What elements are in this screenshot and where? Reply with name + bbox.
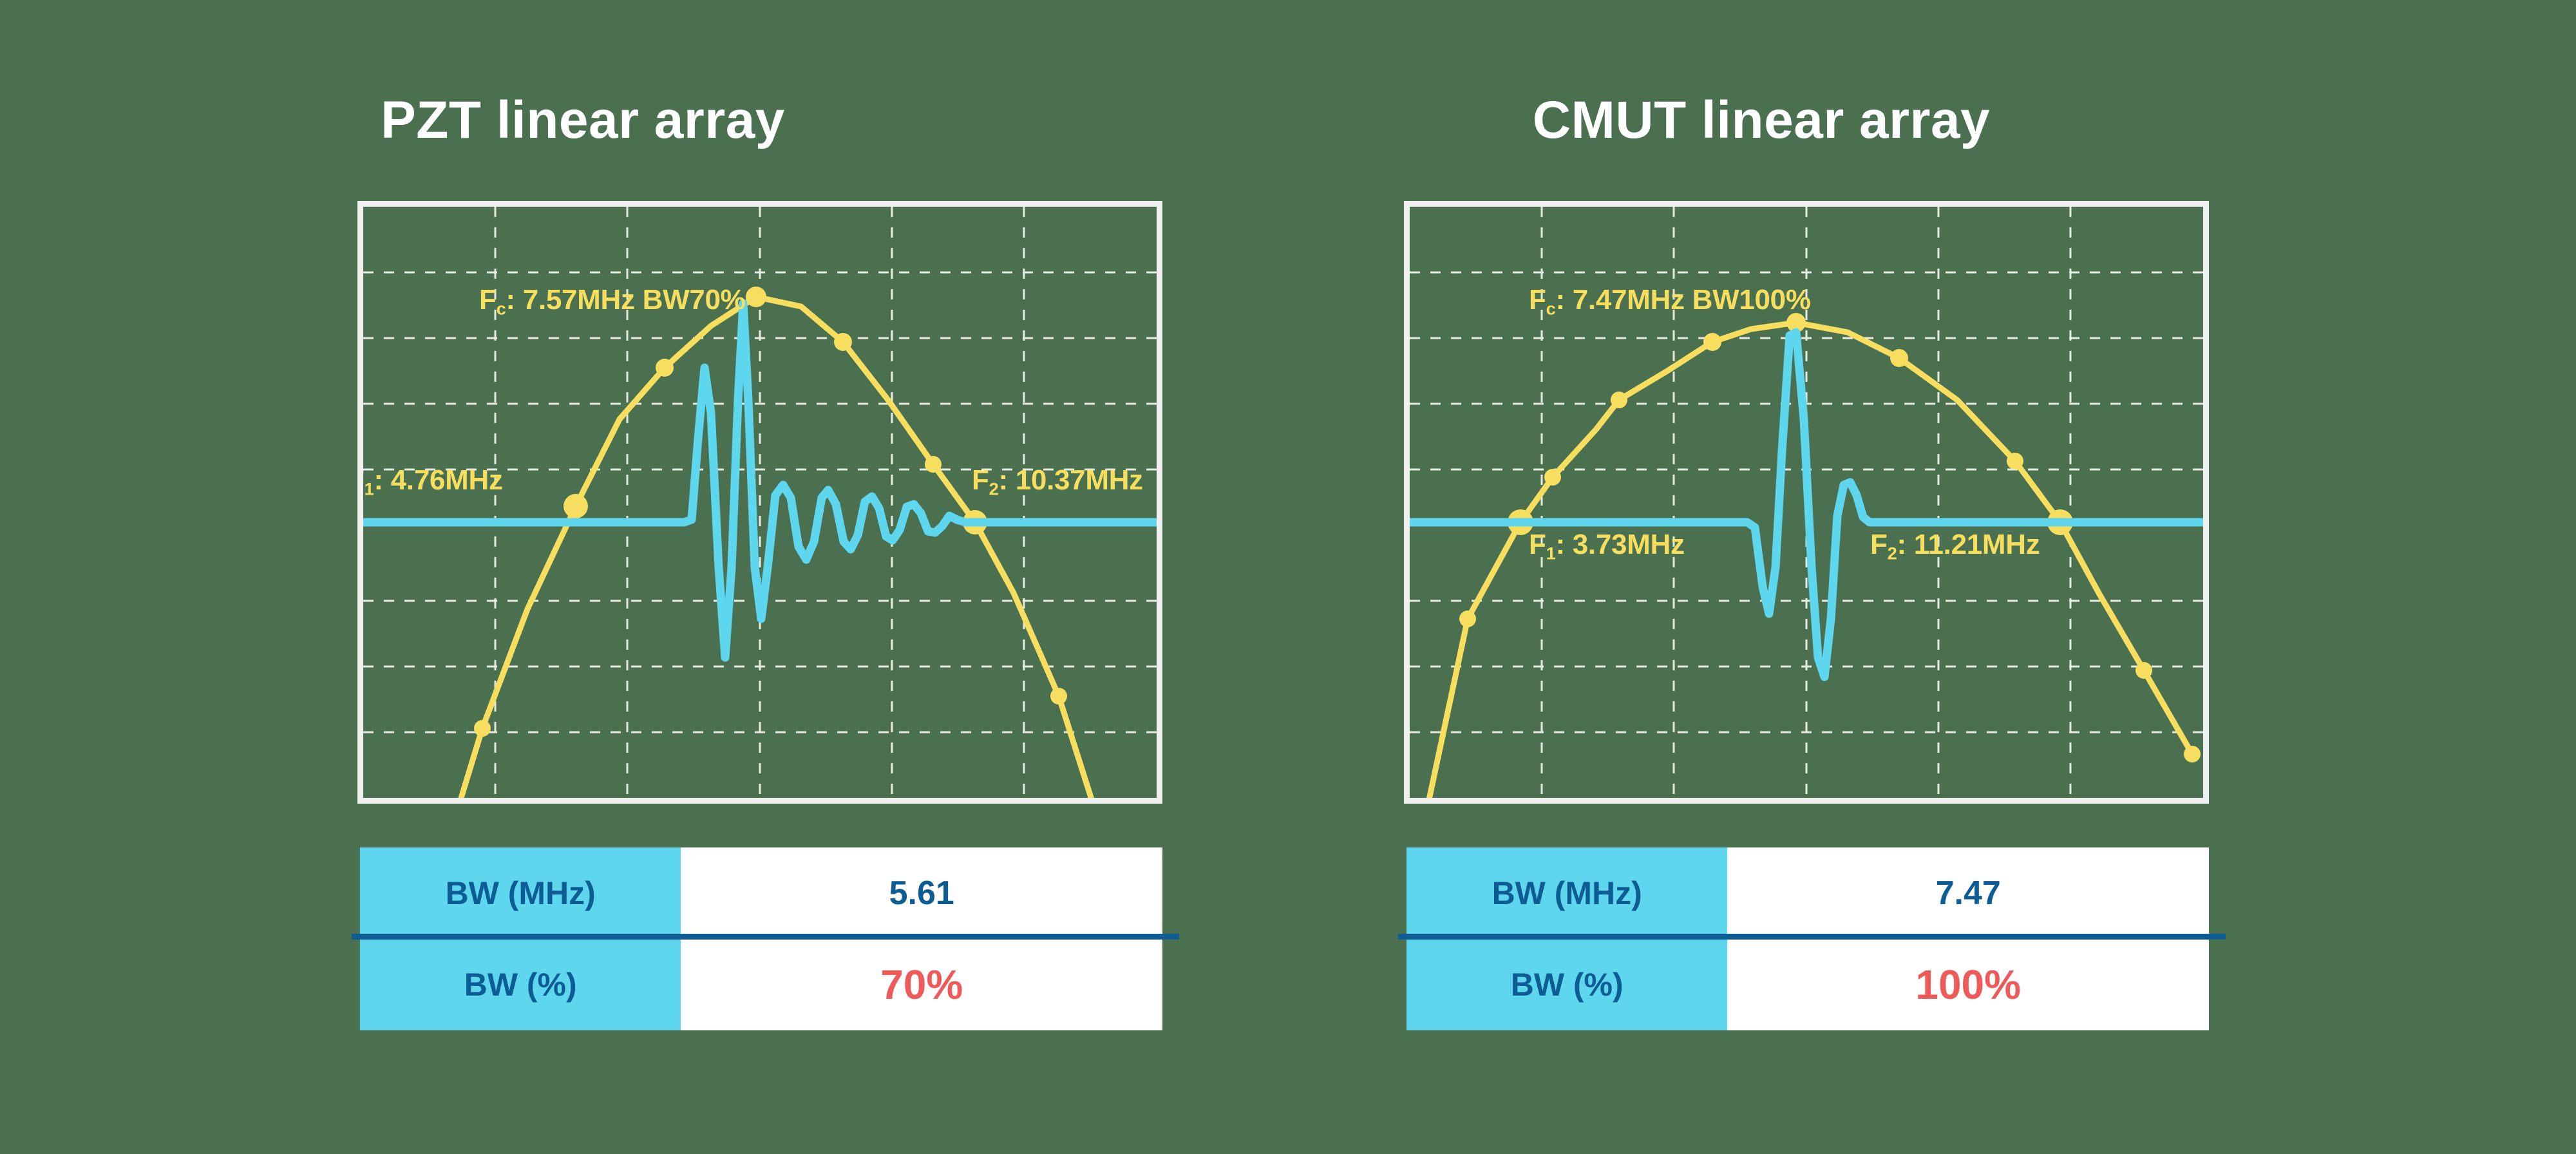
bw-percent-label-pzt: BW (%): [360, 939, 681, 1030]
table-row: BW (%) 100%: [1406, 939, 2209, 1030]
annotation-f2-cmut: F2: 11.21MHz: [1870, 529, 2040, 564]
annotation-f1-prefix-pzt: F: [357, 464, 365, 496]
annotation-f1-cmut: F1: 3.73MHz: [1529, 529, 1685, 564]
annotation-f2-sub-pzt: 2: [989, 479, 999, 499]
bw-table-pzt: BW (MHz) 5.61 BW (%) 70%: [360, 847, 1162, 1030]
page-title-cmut: CMUT linear array: [1001, 90, 2521, 151]
annotation-fc-prefix-cmut: F: [1529, 284, 1546, 316]
annotation-f1-text-pzt: : 4.76MHz: [374, 464, 502, 496]
annotation-fc-prefix-pzt: F: [479, 284, 497, 316]
annotation-fc-text-pzt: : 7.57MHz BW70%: [506, 284, 745, 316]
annotation-fc-text-cmut: : 7.47MHz BW100%: [1555, 284, 1810, 316]
annotation-f1-text-cmut: : 3.73MHz: [1555, 529, 1684, 560]
annotation-f1-pzt: F1: 4.76MHz: [357, 464, 503, 500]
annotation-f2-prefix-pzt: F: [972, 464, 989, 496]
annotation-f1-sub-cmut: 1: [1546, 544, 1556, 563]
table-divider-cmut: [1398, 934, 2226, 940]
annotation-fc-cmut: Fc: 7.47MHz BW100%: [1529, 284, 1811, 319]
bw-percent-label-cmut: BW (%): [1406, 939, 1727, 1030]
impulse-curve-cmut: [1410, 332, 2203, 677]
chart-cmut: Fc: 7.47MHz BW100% F1: 3.73MHz F2: 11.21…: [1404, 201, 2209, 804]
annotation-f2-sub-cmut: 2: [1888, 544, 1897, 563]
annotation-fc-sub-pzt: c: [497, 299, 506, 319]
annotation-f2-prefix-cmut: F: [1870, 529, 1888, 560]
annotation-f2-text-cmut: : 11.21MHz: [1897, 529, 2040, 560]
table-row: BW (MHz) 5.61: [360, 847, 1162, 939]
annotation-fc-sub-cmut: c: [1546, 299, 1556, 319]
annotation-fc-pzt: Fc: 7.57MHz BW70%: [479, 284, 746, 319]
bw-mhz-label-cmut: BW (MHz): [1406, 847, 1727, 939]
bw-mhz-label-pzt: BW (MHz): [360, 847, 681, 939]
bw-mhz-value-cmut: 7.47: [1727, 847, 2209, 939]
table-row: BW (MHz) 7.47: [1406, 847, 2209, 939]
bw-table-cmut: BW (MHz) 7.47 BW (%) 100%: [1406, 847, 2209, 1030]
table-row: BW (%) 70%: [360, 939, 1162, 1030]
annotation-f1-sub-pzt: 1: [365, 479, 374, 499]
panel-cmut: CMUT linear array: [1046, 0, 2334, 1154]
bw-percent-value-cmut: 100%: [1727, 939, 2209, 1030]
annotation-f1-prefix-cmut: F: [1529, 529, 1546, 560]
chart-pzt: Fc: 7.57MHz BW70% F1: 4.76MHz F2: 10.37M…: [357, 201, 1162, 804]
